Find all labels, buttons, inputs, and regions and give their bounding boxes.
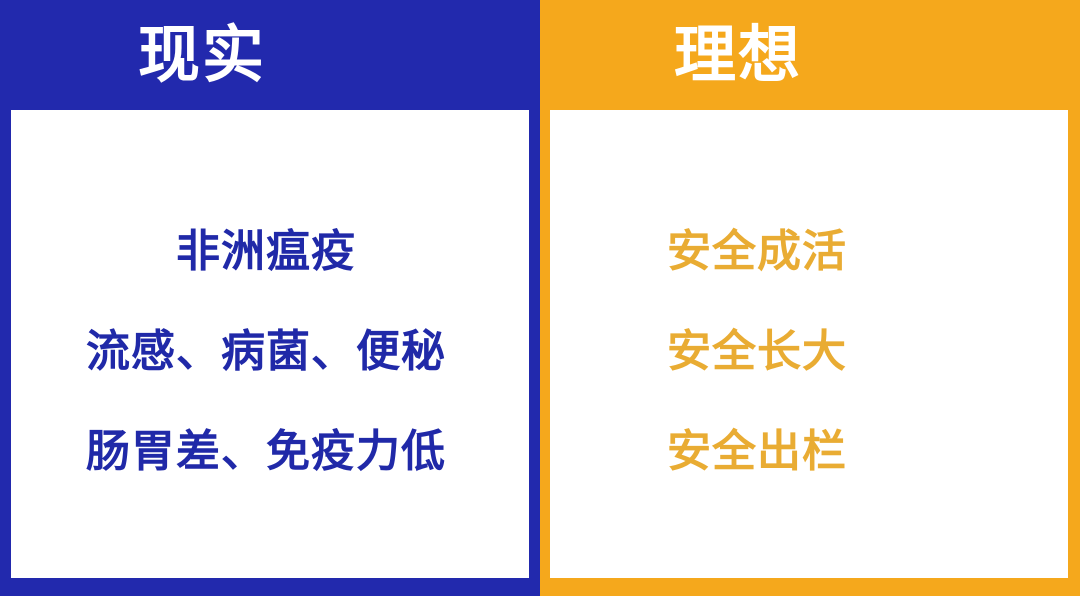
panel-ideal-card: 安全成活 安全长大 安全出栏 <box>550 110 1068 578</box>
panel-ideal-title: 理想 <box>674 24 802 86</box>
panel-reality-header: 现实 <box>0 0 540 110</box>
panel-reality-title: 现实 <box>138 24 266 86</box>
reality-line-3: 肠胃差、免疫力低 <box>86 402 446 502</box>
comparison-poster: 现实 非洲瘟疫 流感、病菌、便秘 肠胃差、免疫力低 理想 安全成活 安全长大 安… <box>0 0 1080 596</box>
panel-reality-card: 非洲瘟疫 流感、病菌、便秘 肠胃差、免疫力低 <box>11 110 529 578</box>
reality-line-1: 非洲瘟疫 <box>176 202 356 302</box>
panel-reality: 现实 非洲瘟疫 流感、病菌、便秘 肠胃差、免疫力低 <box>0 0 540 596</box>
ideal-line-3: 安全出栏 <box>667 402 847 502</box>
panel-ideal-header: 理想 <box>540 0 1080 110</box>
ideal-line-2: 安全长大 <box>667 302 847 402</box>
reality-line-2: 流感、病菌、便秘 <box>86 302 446 402</box>
ideal-line-1: 安全成活 <box>667 202 847 302</box>
panel-ideal: 理想 安全成活 安全长大 安全出栏 <box>540 0 1080 596</box>
